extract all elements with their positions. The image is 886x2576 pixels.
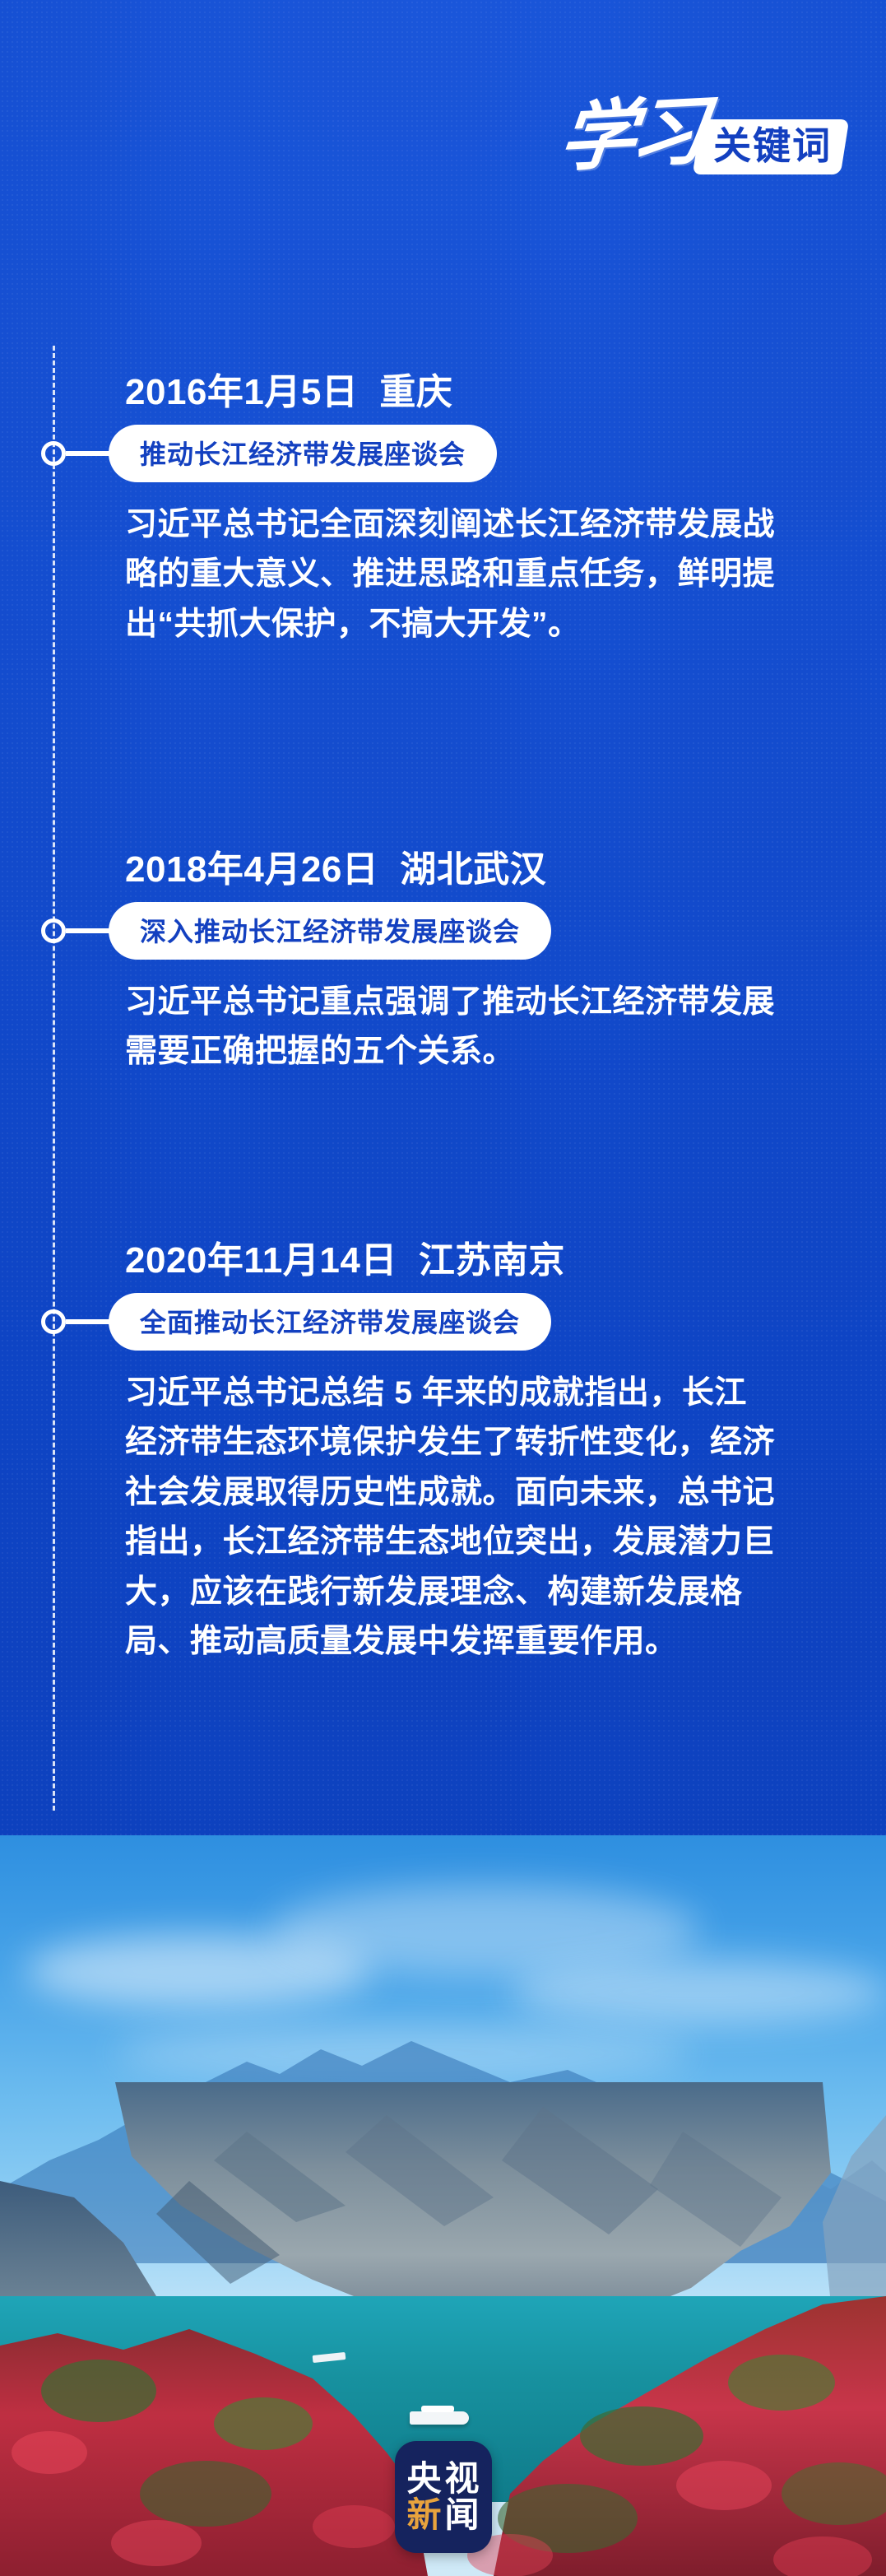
cctv-char-xin: 新 (406, 2498, 441, 2532)
entry-date: 2018年4月26日 (125, 849, 378, 890)
entry-date-row: 2018年4月26日湖北武汉 (125, 839, 886, 892)
cctv-news-logo: 央 视 新 闻 (395, 2441, 492, 2553)
timeline-dot-icon (41, 1309, 66, 1334)
timeline-connector-line (66, 451, 114, 456)
cctv-char-shi: 视 (445, 2462, 480, 2496)
brand-logo: 学习 关键词 (560, 99, 845, 174)
entry-meeting-row: 深入推动长江经济带发展座谈会 (0, 905, 886, 956)
timeline-entry-2: 2018年4月26日湖北武汉 深入推动长江经济带发展座谈会 习近平总书记重点强调… (0, 839, 886, 1077)
entry-meeting-pill: 推动长江经济带发展座谈会 (109, 425, 497, 482)
entry-location: 湖北武汉 (400, 849, 546, 890)
entry-date-row: 2020年11月14日江苏南京 (125, 1230, 886, 1283)
entry-location: 江苏南京 (419, 1240, 565, 1281)
entry-date: 2016年1月5日 (125, 372, 358, 412)
entry-body-text: 习近平总书记重点强调了推动长江经济带发展需要正确把握的五个关系。 (125, 978, 775, 1077)
entry-meeting-row: 全面推动长江经济带发展座谈会 (0, 1296, 886, 1347)
brand-tag-badge: 关键词 (693, 119, 850, 174)
cctv-char-wen: 闻 (445, 2498, 480, 2532)
entry-body-text: 习近平总书记总结 5 年来的成就指出，长江经济带生态环境保护发生了转折性变化，经… (125, 1369, 775, 1667)
scenic-photo: 央 视 新 闻 (0, 1835, 886, 2576)
cctv-logo-row-1: 央 视 (406, 2462, 479, 2496)
infographic-page: 学习 关键词 2016年1月5日重庆 推动长江经济带发展座谈会 习近平总书记全面… (0, 0, 886, 2576)
entry-location: 重庆 (379, 372, 452, 412)
timeline-dot-icon (41, 441, 66, 466)
entry-meeting-pill: 深入推动长江经济带发展座谈会 (109, 902, 551, 960)
entry-meeting-pill: 全面推动长江经济带发展座谈会 (109, 1293, 551, 1351)
cctv-logo-row-2: 新 闻 (406, 2498, 479, 2532)
cctv-char-yang: 央 (406, 2462, 441, 2496)
brand-script-text: 学习 (556, 95, 707, 178)
entry-date-row: 2016年1月5日重庆 (125, 362, 886, 415)
entry-date: 2020年11月14日 (125, 1240, 397, 1281)
timeline-connector-line (66, 928, 114, 933)
entry-body-text: 习近平总书记全面深刻阐述长江经济带发展战略的重大意义、推进思路和重点任务，鲜明提… (125, 500, 775, 649)
timeline-entry-3: 2020年11月14日江苏南京 全面推动长江经济带发展座谈会 习近平总书记总结 … (0, 1230, 886, 1667)
timeline-connector-line (66, 1319, 114, 1324)
timeline-dot-icon (41, 918, 66, 943)
timeline-entry-1: 2016年1月5日重庆 推动长江经济带发展座谈会 习近平总书记全面深刻阐述长江经… (0, 362, 886, 649)
brand-tag-text: 关键词 (713, 124, 832, 168)
entry-meeting-row: 推动长江经济带发展座谈会 (0, 428, 886, 479)
